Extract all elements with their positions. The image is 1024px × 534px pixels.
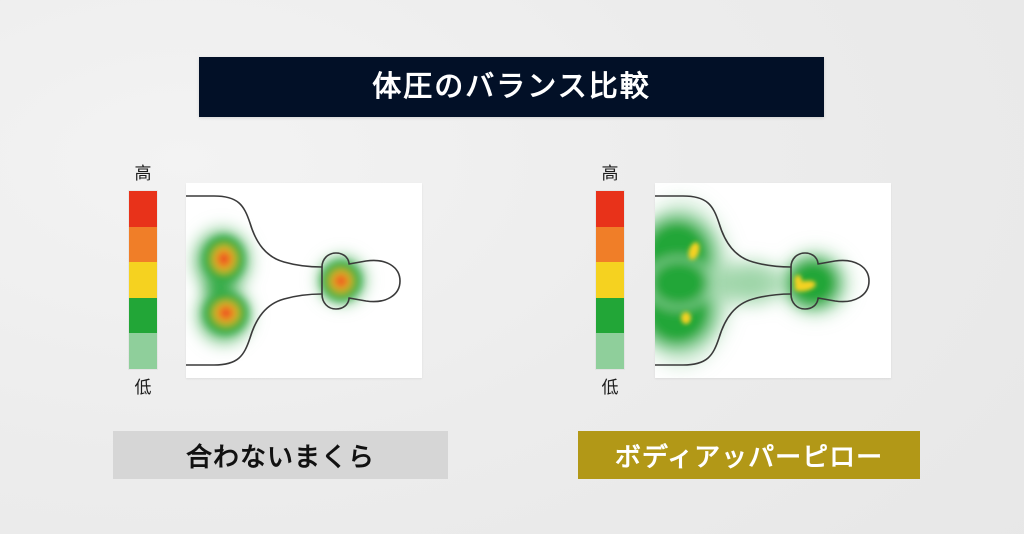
legend-band-low [596,298,624,334]
product-label-left-text: 合わないまくら [186,437,375,474]
legend-band-low [129,298,157,334]
product-label-left: 合わないまくら [113,431,448,479]
legend-band-medium [596,262,624,298]
legend-band-medium [129,262,157,298]
legend-high-label: 高 [135,165,152,182]
legend-right: 高 低 [580,165,640,396]
legend-band-highest [129,191,157,227]
legend-high-label: 高 [602,165,619,182]
legend-low-label: 低 [602,379,619,396]
legend-left: 高 低 [113,165,173,396]
legend-low-label: 低 [135,379,152,396]
legend-band-highest [596,191,624,227]
product-label-right-text: ボディアッパーピロー [615,437,883,474]
product-label-right: ボディアッパーピロー [578,431,920,479]
legend-band-high [129,227,157,263]
legend-scale-left [128,190,158,370]
heatmap-plot-right [655,183,891,378]
heatmap-plot-left [186,183,422,378]
legend-band-lowest [596,333,624,369]
legend-band-lowest [129,333,157,369]
legend-band-high [596,227,624,263]
legend-scale-right [595,190,625,370]
